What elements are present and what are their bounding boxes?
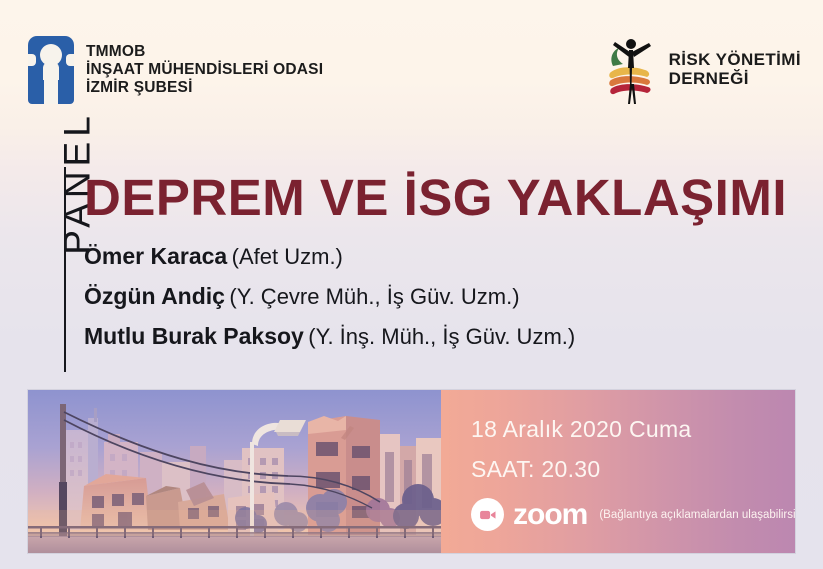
risk-yonetimi-figure-icon — [603, 32, 659, 106]
zoom-video-camera-icon — [471, 498, 504, 531]
speaker-title: (Y. İnş. Müh., İş Güv. Uzm.) — [308, 324, 575, 349]
event-time: SAAT: 20.30 — [471, 456, 795, 483]
speaker-name: Mutlu Burak Paksoy — [84, 323, 304, 349]
speaker-title: (Y. Çevre Müh., İş Güv. Uzm.) — [229, 284, 519, 309]
speaker-list: Ömer Karaca (Afet Uzm.) Özgün Andiç (Y. … — [84, 245, 784, 365]
speaker-item: Özgün Andiç (Y. Çevre Müh., İş Güv. Uzm.… — [84, 285, 784, 308]
risk-line-2: DERNEĞİ — [669, 69, 801, 88]
tmmob-logo-text: TMMOB İNŞAAT MÜHENDİSLERİ ODASI İZMİR ŞU… — [86, 43, 323, 98]
zoom-platform-row: zoom (Bağlantıya açıklamalardan ulaşabil… — [471, 498, 795, 531]
event-poster: TMMOB İNŞAAT MÜHENDİSLERİ ODASI İZMİR ŞU… — [0, 0, 823, 569]
zoom-wordmark: zoom — [513, 500, 587, 530]
bottom-band: 18 Aralık 2020 Cuma SAAT: 20.30 zoom (Ba… — [28, 390, 795, 553]
event-date: 18 Aralık 2020 Cuma — [471, 416, 795, 443]
speaker-name: Özgün Andiç — [84, 283, 225, 309]
zoom-link-note: (Bağlantıya açıklamalardan ulaşabilirsin… — [599, 509, 795, 521]
panel-divider-rule — [64, 167, 66, 372]
page-title: DEPREM VE İSG YAKLAŞIMI — [84, 172, 787, 223]
risk-line-1: RİSK YÖNETİMİ — [669, 50, 801, 69]
speaker-item: Mutlu Burak Paksoy (Y. İnş. Müh., İş Güv… — [84, 325, 784, 348]
tmmob-line-1: TMMOB — [86, 43, 323, 61]
earthquake-damaged-cityscape-illustration — [28, 390, 441, 553]
speaker-name: Ömer Karaca — [84, 243, 227, 269]
event-info-content: 18 Aralık 2020 Cuma SAAT: 20.30 — [441, 390, 795, 483]
tmmob-line-2: İNŞAAT MÜHENDİSLERİ ODASI — [86, 61, 323, 79]
risk-yonetimi-dernegi-logo: RİSK YÖNETİMİ DERNEĞİ — [603, 32, 801, 106]
event-info-panel: 18 Aralık 2020 Cuma SAAT: 20.30 zoom (Ba… — [441, 390, 795, 553]
tmmob-line-3: İZMİR ŞUBESİ — [86, 79, 323, 97]
risk-yonetimi-logo-text: RİSK YÖNETİMİ DERNEĞİ — [669, 50, 801, 88]
speaker-title: (Afet Uzm.) — [232, 244, 343, 269]
speaker-item: Ömer Karaca (Afet Uzm.) — [84, 245, 784, 268]
